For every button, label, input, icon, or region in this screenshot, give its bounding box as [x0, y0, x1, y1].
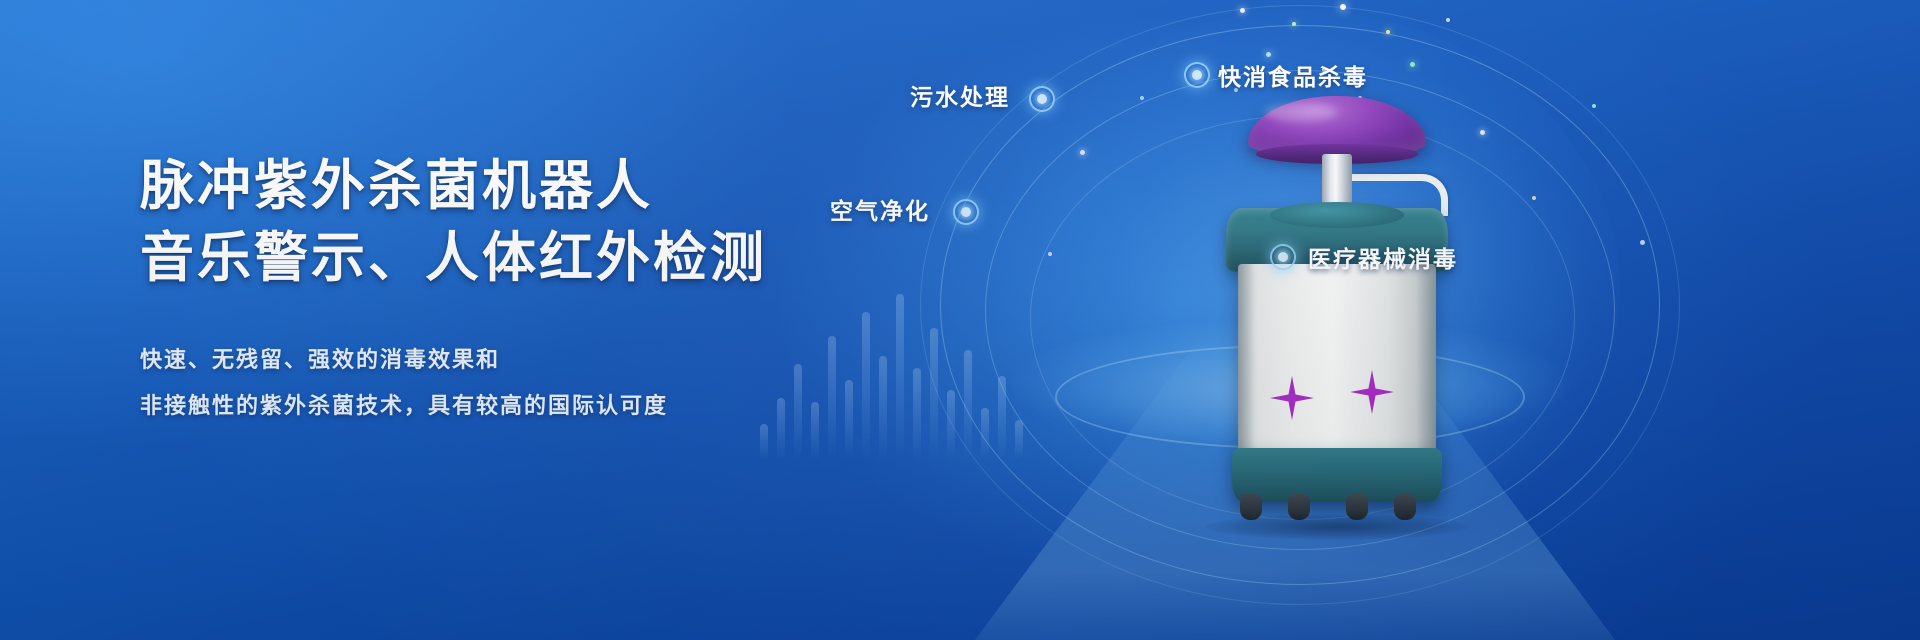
- hero-banner: 脉冲紫外杀菌机器人 音乐警示、人体红外检测 快速、无残留、强效的消毒效果和 非接…: [0, 0, 1920, 640]
- particle: [1140, 96, 1144, 100]
- hero-subcopy: 快速、无残留、强效的消毒效果和 非接触性的紫外杀菌技术，具有较高的国际认可度: [140, 337, 860, 429]
- particle: [1640, 240, 1645, 245]
- subtitle-line-2: 非接触性的紫外杀菌技术，具有较高的国际认可度: [140, 383, 860, 429]
- particle: [1480, 130, 1485, 135]
- purple-sparkle-star-icon: [1350, 370, 1394, 414]
- particle: [1592, 104, 1596, 108]
- product-scene: LEIKE LEIKE 污水处理 快消食品杀毒 空气净化 医疗器械消毒: [780, 0, 1920, 640]
- feature-node-medical-device-disinfection: [1270, 244, 1296, 270]
- feature-node-fmcg-food-sterilization: [1184, 62, 1210, 88]
- robot-body-panel: LEIKE LEIKE: [1238, 264, 1436, 454]
- particle: [1080, 150, 1085, 155]
- subtitle-line-1: 快速、无残留、强效的消毒效果和: [140, 337, 860, 383]
- hero-copy: 脉冲紫外杀菌机器人 音乐警示、人体红外检测 快速、无残留、强效的消毒效果和 非接…: [140, 150, 860, 429]
- body-shade-right: [1416, 264, 1436, 454]
- uv-disinfection-robot: LEIKE LEIKE: [1212, 96, 1462, 496]
- purple-sparkle-star-icon: [1270, 376, 1314, 420]
- particle: [1532, 196, 1536, 200]
- feature-node-air-purification: [953, 199, 979, 225]
- feature-label-medical-device-disinfection: 医疗器械消毒: [1308, 240, 1458, 274]
- particle: [1048, 252, 1052, 256]
- body-shade-left: [1238, 264, 1254, 454]
- feature-label-air-purification: 空气净化: [830, 192, 930, 226]
- robot-shadow: [1206, 514, 1468, 540]
- feature-node-sewage-treatment: [1029, 86, 1055, 112]
- feature-label-sewage-treatment: 污水处理: [910, 78, 1010, 112]
- page-title-line-1: 脉冲紫外杀菌机器人: [140, 150, 860, 222]
- feature-label-fmcg-food-sterilization: 快消食品杀毒: [1218, 58, 1368, 92]
- page-title-line-2: 音乐警示、人体红外检测: [140, 222, 860, 294]
